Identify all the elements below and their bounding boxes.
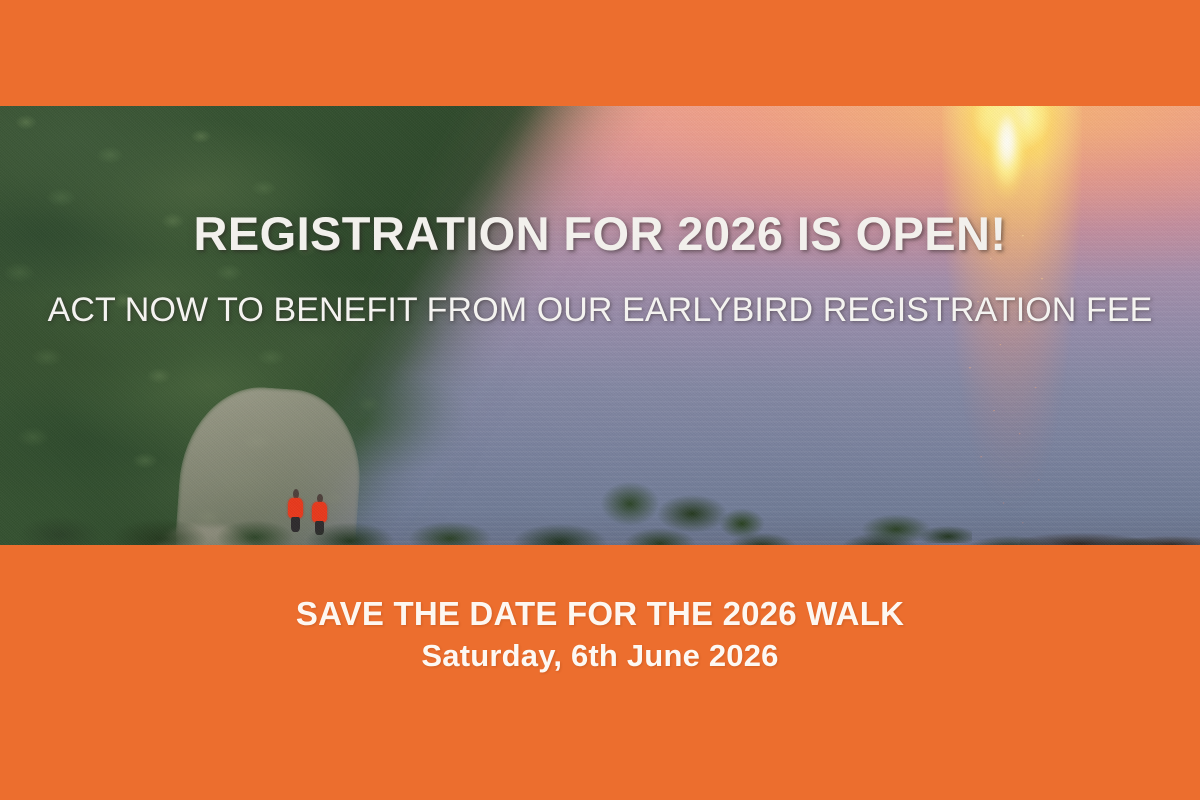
event-date-text: Saturday, 6th June 2026 bbox=[0, 638, 1200, 674]
registration-banner: REGISTRATION FOR 2026 IS OPEN! ACT NOW T… bbox=[0, 0, 1200, 800]
top-orange-band bbox=[0, 0, 1200, 106]
headline-registration-open: REGISTRATION FOR 2026 IS OPEN! bbox=[0, 206, 1200, 261]
foreground-rocks bbox=[1020, 523, 1200, 545]
sun-reflection-core bbox=[985, 106, 1029, 216]
foreground-trees bbox=[596, 479, 766, 541]
save-the-date-heading: SAVE THE DATE FOR THE 2026 WALK bbox=[0, 595, 1200, 633]
subheadline-earlybird: ACT NOW TO BENEFIT FROM OUR EARLYBIRD RE… bbox=[0, 291, 1200, 330]
foreground-bush bbox=[852, 507, 972, 543]
